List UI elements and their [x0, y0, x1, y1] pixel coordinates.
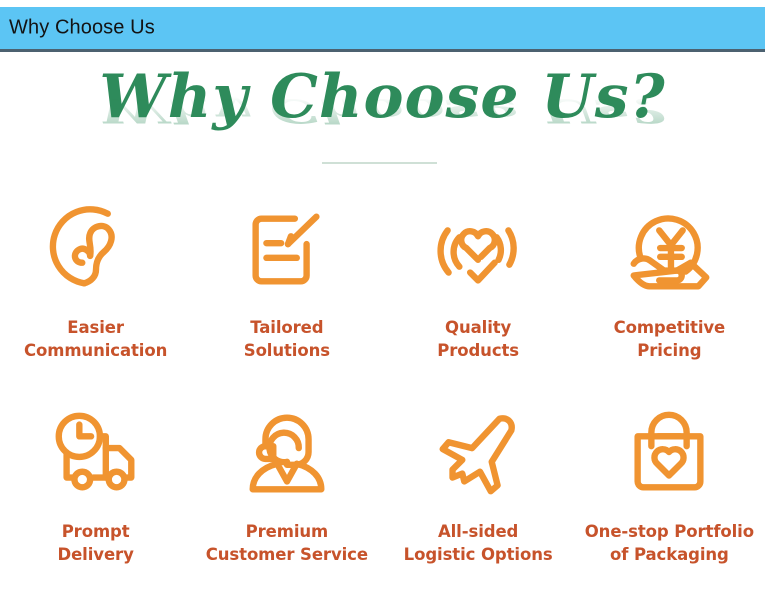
feature-item-tailored-solutions[interactable]: Tailored Solutions: [191, 190, 382, 390]
feature-label: Easier Communication: [24, 316, 167, 362]
feature-label: Competitive Pricing: [614, 316, 726, 362]
feature-item-one-stop-portfolio-of-packaging[interactable]: One-stop Portfolio of Packaging: [574, 394, 765, 594]
ear-listening-icon: [46, 198, 146, 302]
feature-item-quality-products[interactable]: Quality Products: [383, 190, 574, 390]
feature-item-easier-communication[interactable]: Easier Communication: [0, 190, 191, 390]
page-title: Why Choose Us: [9, 17, 155, 40]
window-title-bar: Why Choose Us: [0, 7, 765, 52]
feature-label: Premium Customer Service: [206, 520, 368, 566]
hero-heading-text: Why Choose Us?: [0, 66, 765, 128]
headset-person-icon: [237, 402, 337, 506]
feature-label: Tailored Solutions: [244, 316, 330, 362]
feature-label: Prompt Delivery: [58, 520, 134, 566]
hero-heading-block: Why Choose Us? Why Choose Us?: [0, 58, 765, 170]
document-pencil-icon: [237, 198, 337, 302]
hero-divider: [322, 162, 437, 164]
feature-item-competitive-pricing[interactable]: Competitive Pricing: [574, 190, 765, 390]
shopping-bag-heart-icon: [619, 402, 719, 506]
truck-clock-icon: [46, 402, 146, 506]
feature-item-all-sided-logistic-options[interactable]: All-sided Logistic Options: [383, 394, 574, 594]
feature-label: One-stop Portfolio of Packaging: [585, 520, 754, 566]
feature-label: Quality Products: [437, 316, 519, 362]
feature-label: All-sided Logistic Options: [404, 520, 553, 566]
feature-item-prompt-delivery[interactable]: Prompt Delivery: [0, 394, 191, 594]
feature-grid: Easier Communication Tailored Solutions: [0, 190, 765, 594]
heart-signal-check-icon: [428, 198, 528, 302]
feature-item-premium-customer-service[interactable]: Premium Customer Service: [191, 394, 382, 594]
hand-yen-coin-icon: [619, 198, 719, 302]
airplane-icon: [428, 402, 528, 506]
